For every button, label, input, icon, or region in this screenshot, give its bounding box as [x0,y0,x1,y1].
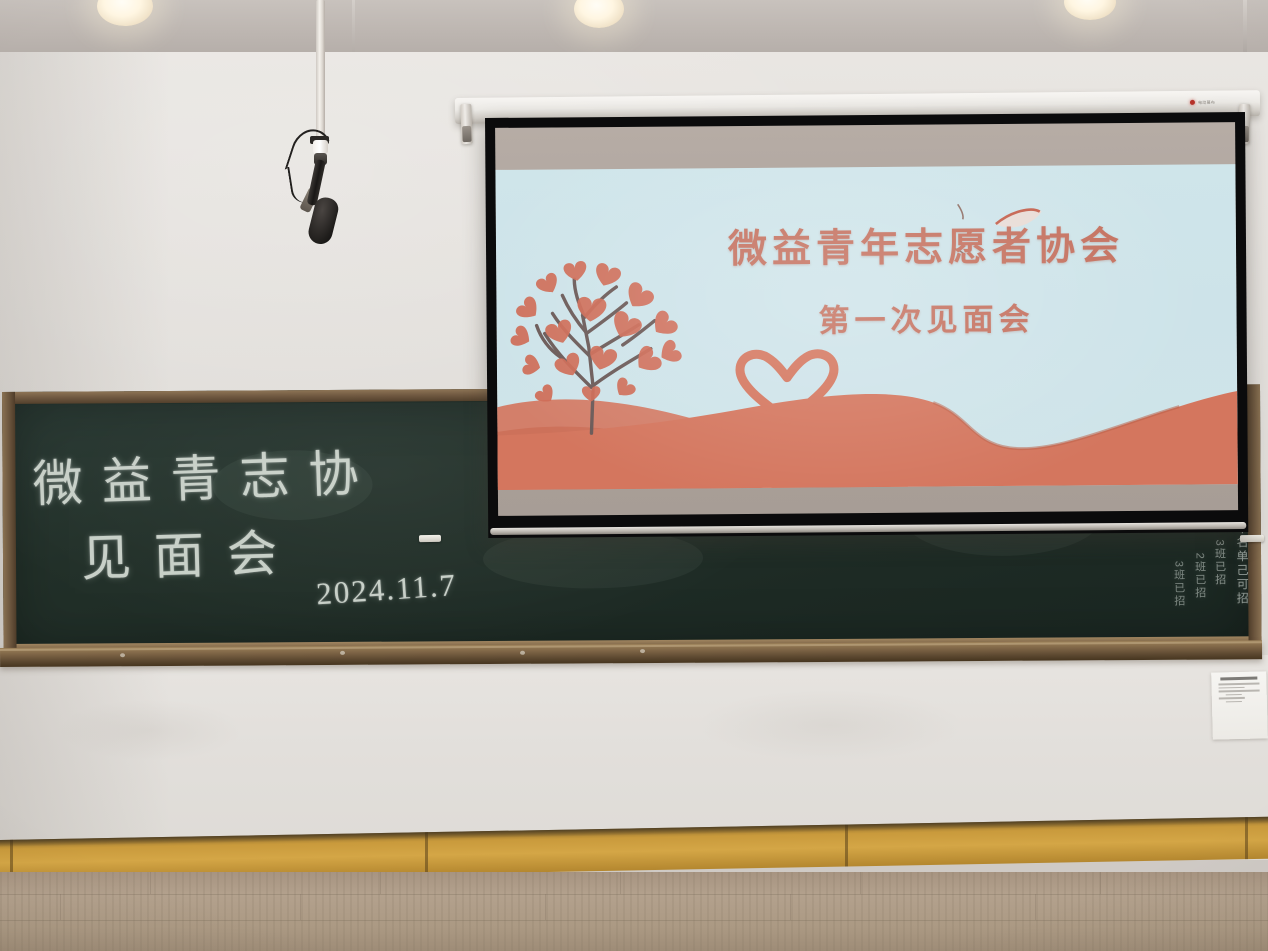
screen-surface: 微益青年志愿者协会 第一次见面会 [495,122,1238,516]
notice-line [1219,690,1260,693]
notice-line [1226,700,1242,702]
ceiling-seam [352,0,355,58]
chalk-stick[interactable] [1240,535,1264,542]
notice-line [1226,693,1242,695]
notice-heading [1220,677,1257,681]
wall-notice-paper [1211,671,1268,739]
presentation-slide: 微益青年志愿者协会 第一次见面会 [495,164,1237,490]
chalk-side-note-3: 2班已招 [1191,553,1208,600]
chalk-text-line2: 见面会 [80,513,301,591]
chalk-residue [640,649,645,653]
power-indicator-icon [1190,100,1195,105]
chalk-text-date: 2024.11.7 [315,567,458,612]
chalk-side-note-2: 3班已招 [1211,540,1228,587]
floor [0,872,1268,951]
slide-subtitle: 第一次见面会 [616,292,1236,342]
ceiling-seam-right [1243,0,1247,58]
chalk-stick[interactable] [419,535,441,542]
chalk-residue [120,653,125,657]
notice-line [1219,686,1245,688]
screen-bracket-left [460,104,472,144]
notice-line [1218,683,1259,686]
chalk-side-note-4: 3班已招 [1170,561,1187,608]
wall-smudge [60,700,240,760]
chalk-residue [520,651,525,655]
chalk-text-line1: 微益青志协 [31,433,378,517]
projection-screen[interactable]: 微益青年志愿者协会 第一次见面会 [485,112,1248,538]
classroom-photo: 电动幕布 微益青志协 见面会 2024.11.7 24级会本名单己可招 3班已招… [0,0,1268,951]
chalk-residue [340,651,345,655]
housing-label-text: 电动幕布 [1198,100,1215,105]
ribbon-heart-icon [732,345,843,426]
notice-line [1219,697,1245,699]
slide-title: 微益青年志愿者协会 [616,214,1236,275]
board-frame-left [2,392,17,660]
slide-text-block: 微益青年志愿者协会 第一次见面会 [496,214,1237,343]
wall-smudge [700,690,960,760]
